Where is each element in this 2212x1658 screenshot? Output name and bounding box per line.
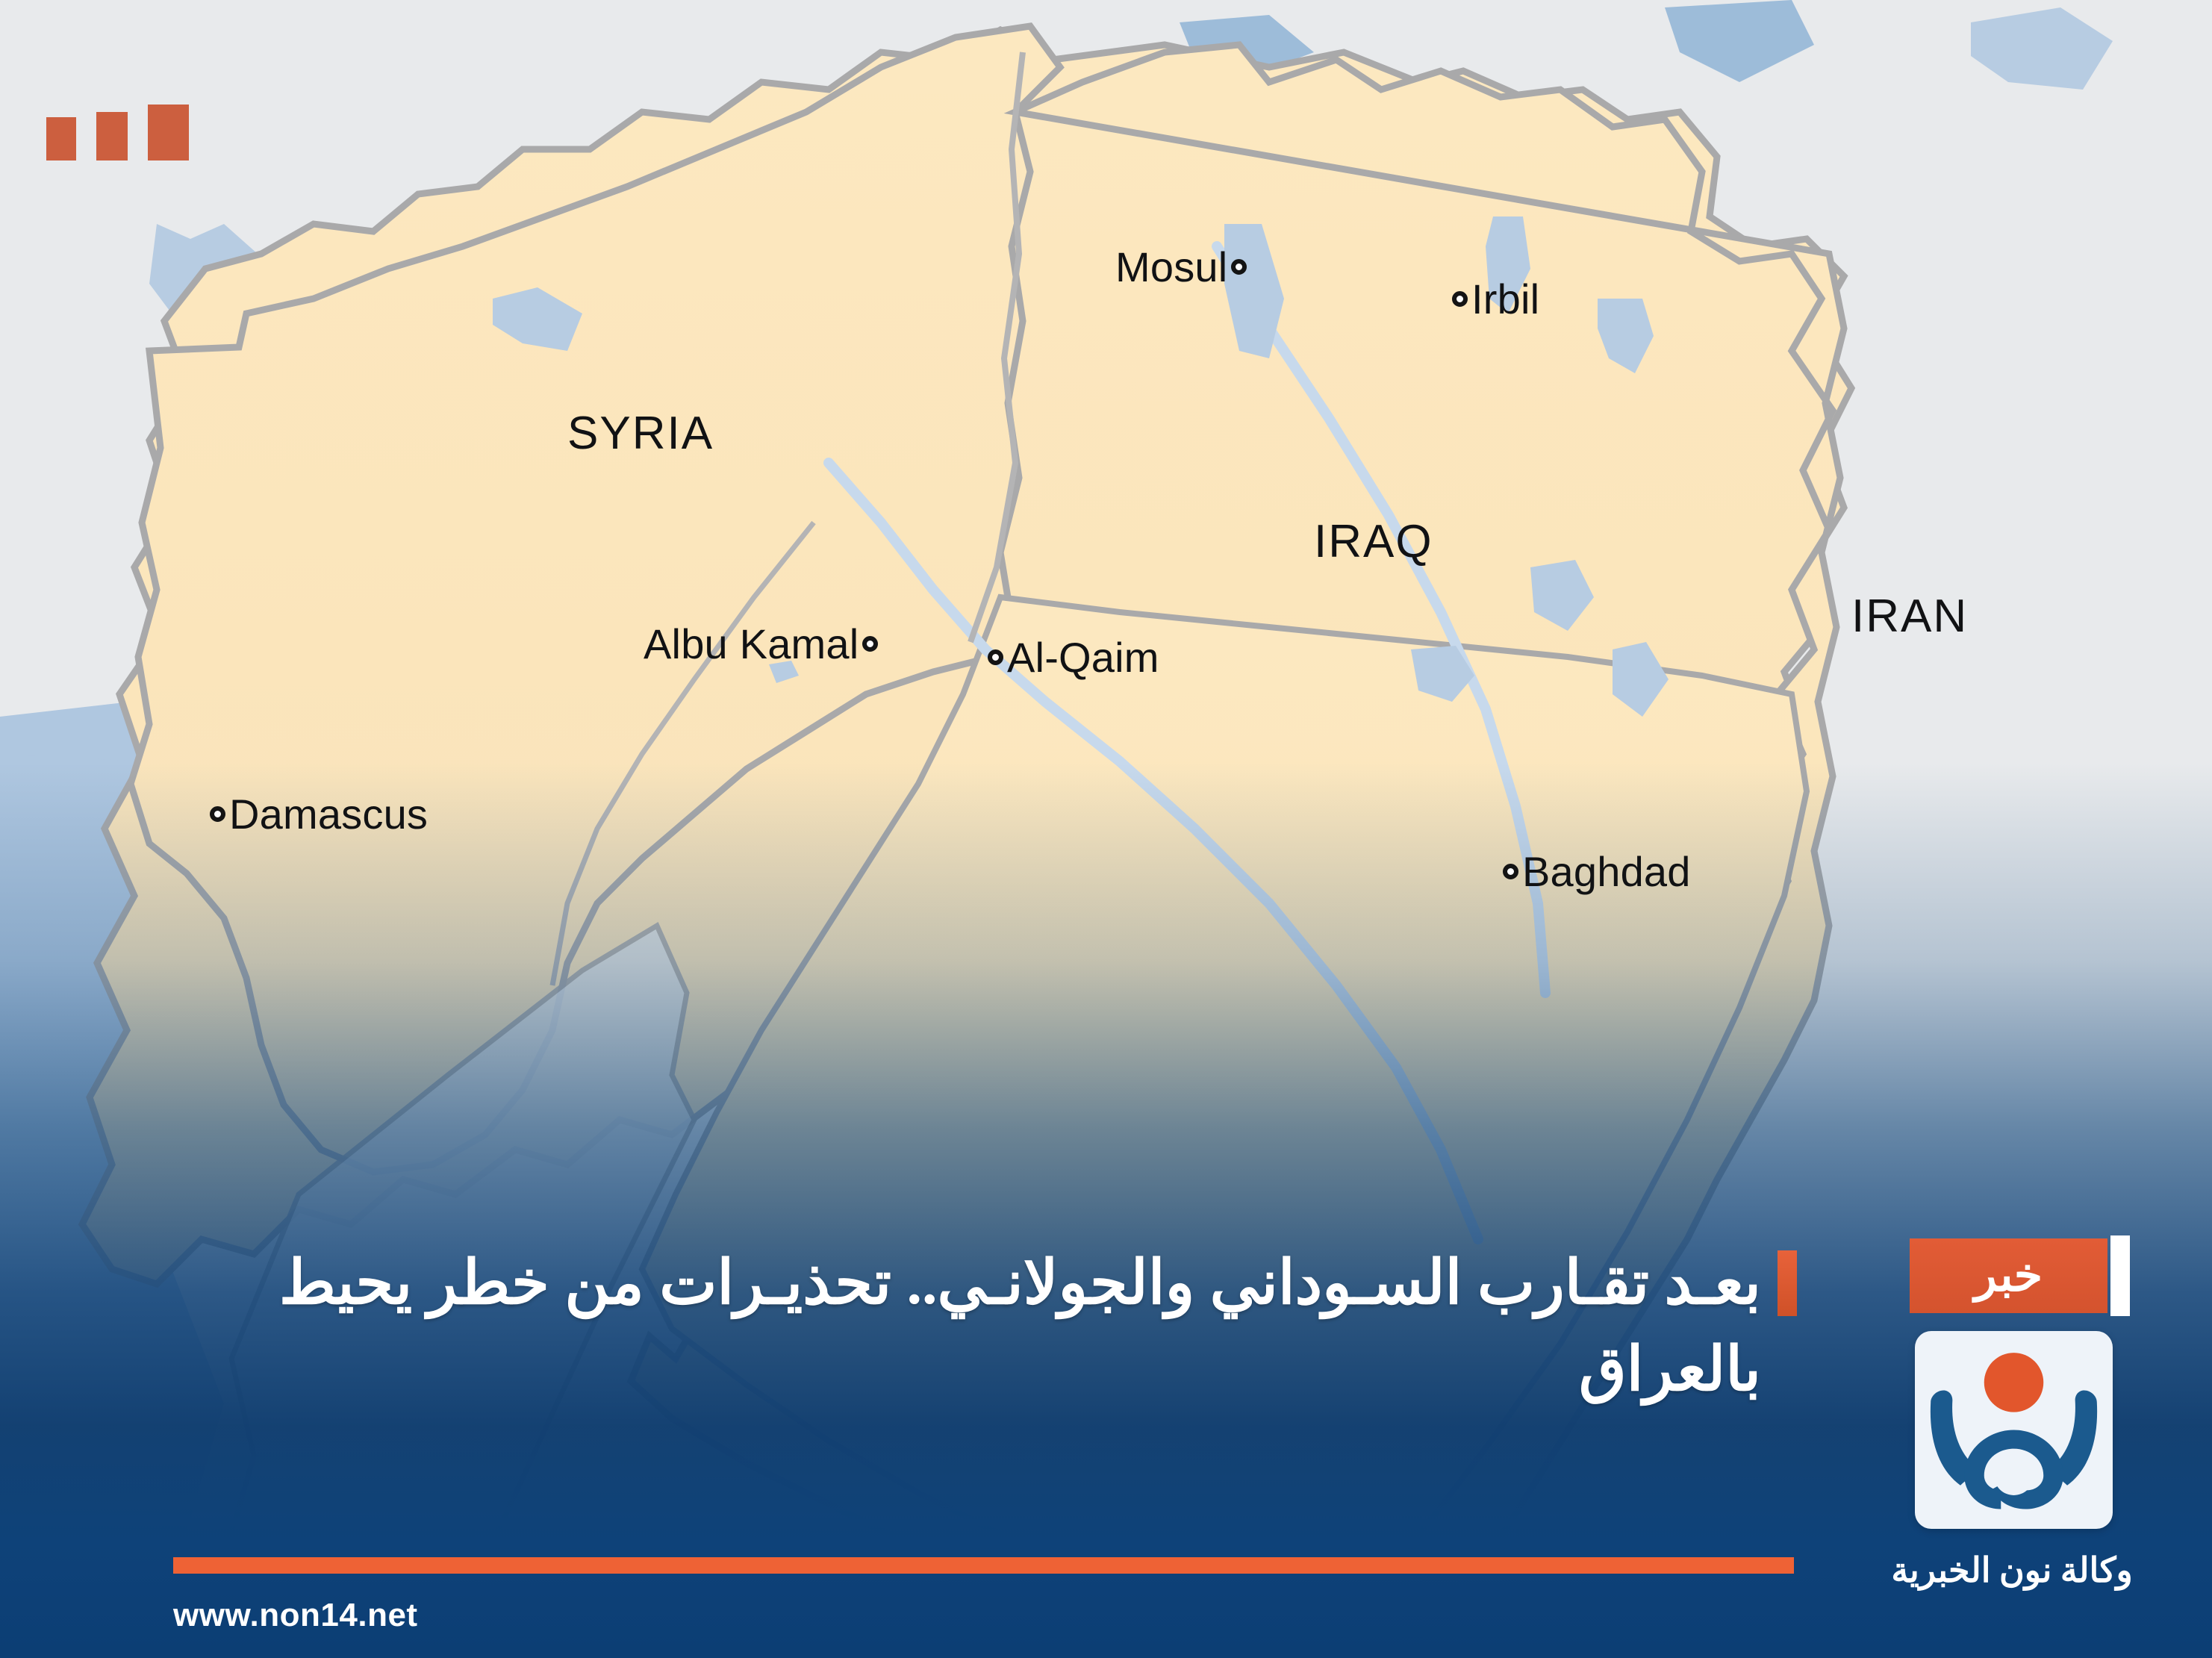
city-label-text: Al-Qaim [1007, 633, 1159, 682]
brand-bars-mark [46, 105, 189, 160]
logo-orange-circle [1984, 1353, 2044, 1412]
brand-bar-2 [96, 112, 128, 160]
city-label-text: Irbil [1471, 275, 1539, 323]
agency-logo[interactable] [1915, 1331, 2113, 1529]
headline-block: بعـد تقـارب السـوداني والجولانـي.. تحذيـ… [127, 1240, 1794, 1414]
city-marker-dot [1452, 291, 1468, 307]
city-label-text: Mosul [1115, 243, 1227, 291]
logo-inner-circle [1994, 1456, 2034, 1495]
city-label-text: Damascus [229, 790, 428, 838]
city-label-al-qaim: Al-Qaim [984, 633, 1159, 682]
agency-logo-mark [1915, 1331, 2113, 1529]
brand-bar-3 [46, 117, 76, 160]
city-label-irbil: Irbil [1448, 275, 1539, 323]
city-marker-dot [988, 649, 1003, 665]
news-badge: خبر [1910, 1238, 2107, 1313]
city-label-albu-kamal: Albu Kamal [644, 620, 882, 668]
orange-divider-rule [173, 1557, 1794, 1574]
city-marker-dot [1503, 864, 1518, 879]
city-marker-dot [210, 806, 225, 822]
city-marker-dot [1231, 259, 1247, 275]
city-label-mosul: Mosul [1115, 243, 1250, 291]
agency-name: وكالة نون الخبرية [1863, 1550, 2161, 1590]
country-label-syria: SYRIA [567, 407, 714, 460]
country-label-text: IRAQ [1314, 515, 1433, 568]
country-label-text: IRAN [1851, 590, 1968, 643]
bottom-caption-band: خبر وكالة نون الخبرية بعـد تقـارب السـود… [0, 1307, 2212, 1658]
site-url[interactable]: www.non14.net [173, 1597, 418, 1634]
city-label-baghdad: Baghdad [1499, 847, 1691, 896]
country-label-iran: IRAN [1851, 590, 1968, 643]
country-label-text: SYRIA [567, 407, 714, 460]
country-label-iraq: IRAQ [1314, 515, 1433, 568]
city-label-text: Albu Kamal [644, 620, 859, 668]
city-label-damascus: Damascus [206, 790, 428, 838]
news-badge-label: خبر [1975, 1253, 2043, 1299]
city-label-text: Baghdad [1522, 847, 1691, 896]
headline-accent-bar [1778, 1250, 1797, 1316]
brand-bar-1 [148, 105, 189, 160]
news-badge-white-tab [2110, 1235, 2130, 1316]
news-graphic-card: SYRIA IRAQ IRAN Mosul Irbil Albu Kamal A… [0, 0, 2212, 1658]
city-marker-dot [862, 636, 878, 652]
headline-text: بعـد تقـارب السـوداني والجولانـي.. تحذيـ… [127, 1240, 1794, 1414]
